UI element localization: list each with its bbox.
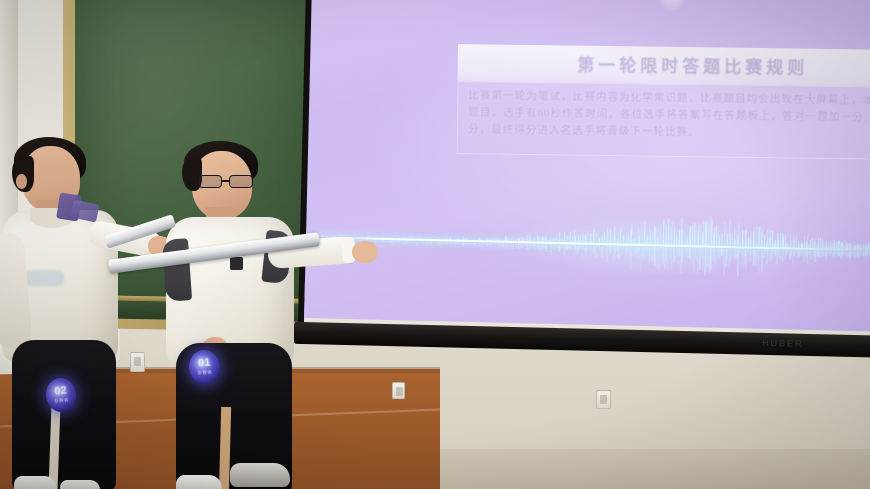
ear [16, 174, 27, 189]
classroom-photo: 第一轮限时答题比赛规则 比赛第一轮为笔试，比赛内容为化学常识题，比赛题目均会出现… [0, 0, 870, 489]
slide-title: 第一轮限时答题比赛规则 [458, 49, 870, 80]
projected-slide: 第一轮限时答题比赛规则 比赛第一轮为笔试，比赛内容为化学常识题，比赛题目均会出现… [304, 0, 870, 332]
screen-brand-text: HUBER [762, 338, 804, 349]
contestant-label: 参赛者 [54, 397, 70, 405]
slide-content-card: 第一轮限时答题比赛规则 比赛第一轮为笔试，比赛内容为化学常识题，比赛题目均会出现… [457, 44, 870, 160]
right-hand [352, 241, 378, 263]
shoe [176, 475, 222, 489]
outlet-slot [600, 395, 607, 404]
projection-screen: 第一轮限时答题比赛规则 比赛第一轮为笔试，比赛内容为化学常识题，比赛题目均会出现… [298, 0, 870, 354]
glasses-lens-left [198, 175, 222, 188]
wall-outlet [392, 382, 405, 399]
sweatshirt-side-panel-left [162, 238, 192, 302]
outlet-slot [396, 387, 403, 396]
shoe [60, 480, 100, 489]
wall-outlet [596, 390, 611, 409]
glasses-icon [198, 175, 254, 188]
person-right [160, 145, 350, 489]
sweatshirt-chest-logo [230, 257, 243, 270]
person-left [0, 140, 176, 489]
slide-body-line-1: 比赛第一轮为笔试，比赛内容为化学常识题，比赛题目均会出现在大屏幕上，本轮 [468, 89, 870, 108]
track-pants [12, 340, 116, 489]
contestant-number: 01 [198, 357, 211, 369]
shirt-print [24, 270, 64, 286]
glasses-lens-right [229, 175, 253, 188]
contestant-label: 参赛者 [197, 370, 212, 377]
shoe [230, 463, 290, 487]
slide-body: 比赛第一轮为笔试，比赛内容为化学常识题，比赛题目均会出现在大屏幕上，本轮 题目，… [457, 81, 870, 160]
slide-body-line-3: 分，最终得分进入名选手将晋级下一轮比赛。 [468, 123, 870, 142]
slide-title-band: 第一轮限时答题比赛规则 [458, 44, 870, 87]
slide-body-line-2: 题目，选手有60秒作答时间，各位选手将答案写在答题板上，答对一题加一分，答错不得 [468, 106, 870, 125]
audio-waveform-visualizer [315, 200, 870, 287]
watermark-icon [653, 0, 690, 11]
shoe [14, 476, 56, 489]
contestant-number: 02 [54, 385, 67, 397]
